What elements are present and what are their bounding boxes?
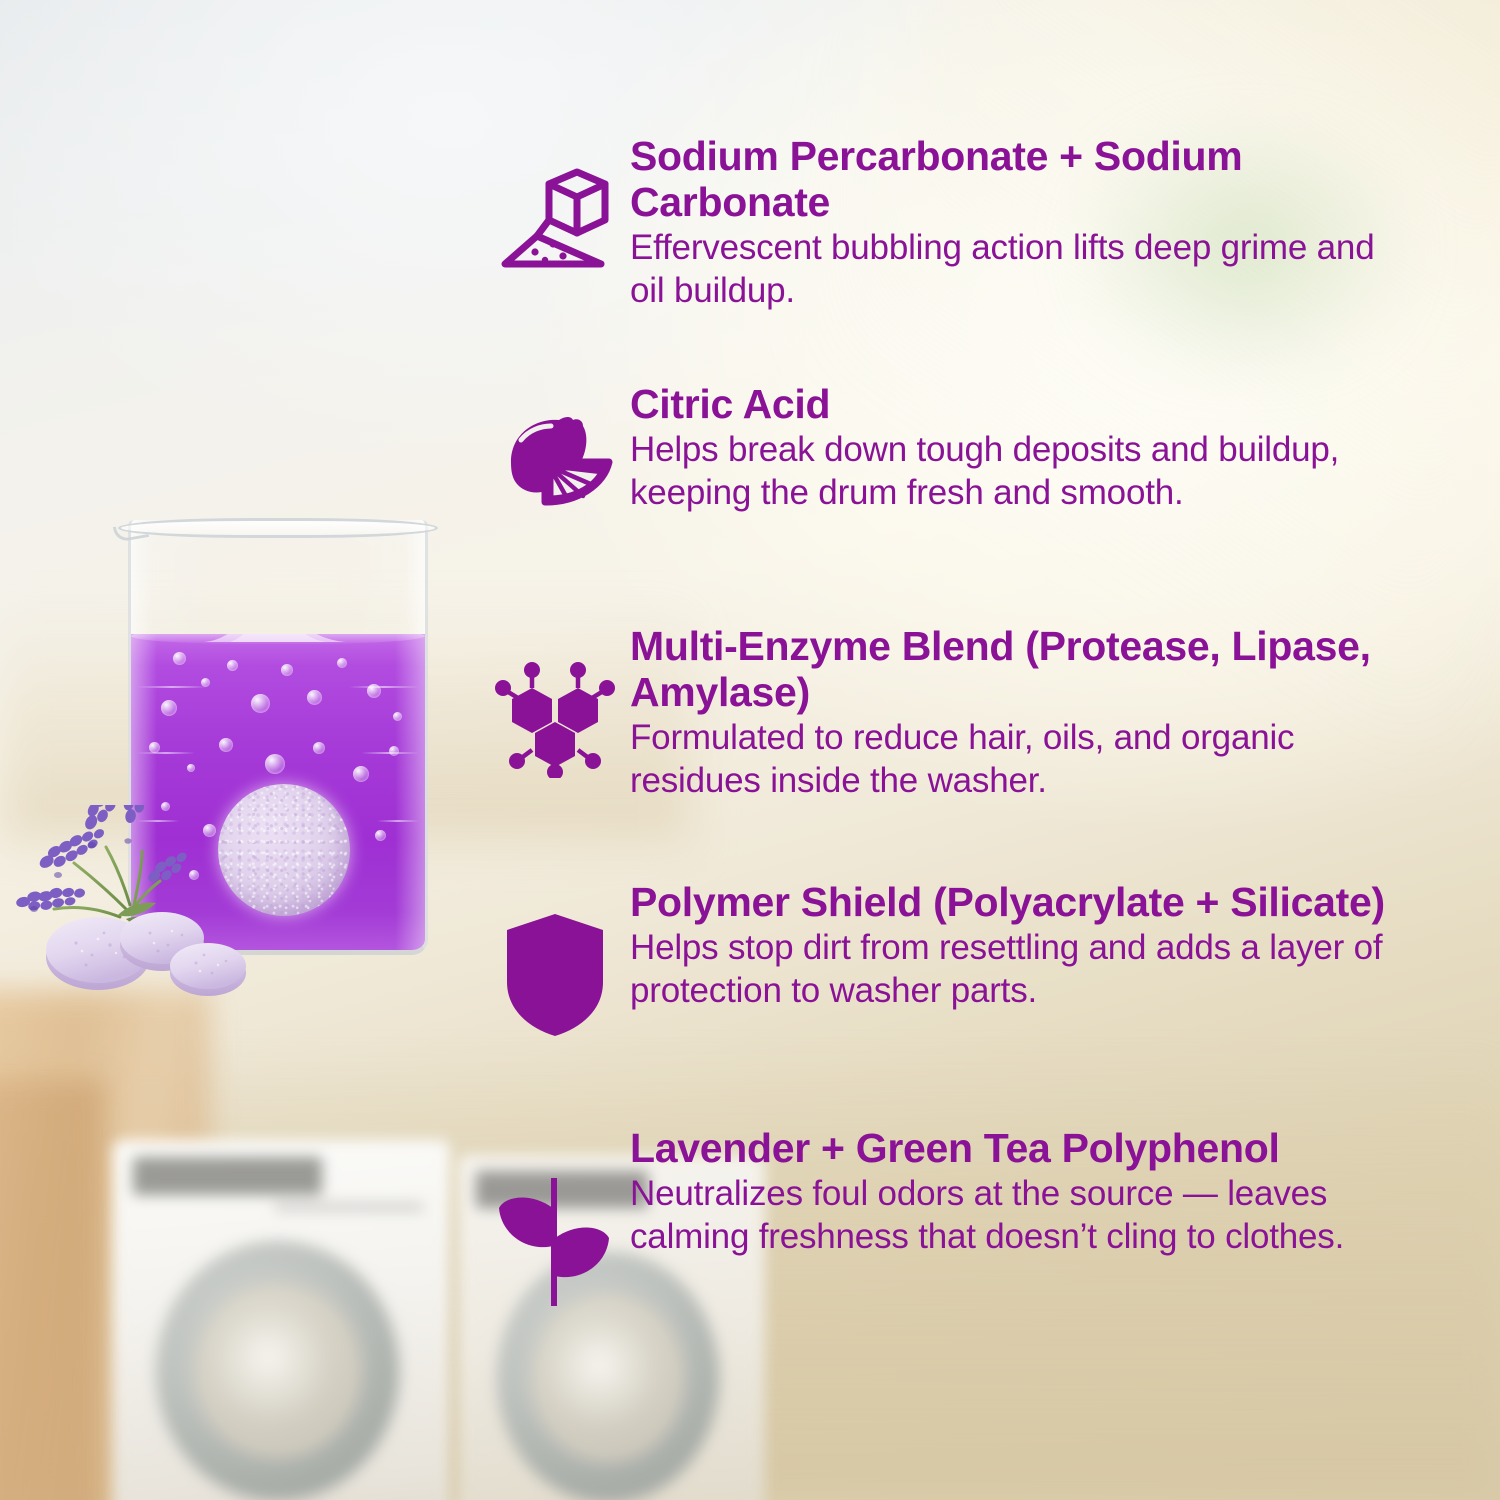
beaker-rim [118, 518, 438, 538]
molecule-icon [480, 622, 630, 778]
wooden-cabinet-edge [0, 1080, 105, 1500]
feature-item-polymer-shield: Polymer Shield (Polyacrylate + Silicate)… [480, 878, 1410, 1038]
feature-item-citric-acid: Citric Acid Helps break down tough depos… [480, 380, 1410, 514]
feature-text: Polymer Shield (Polyacrylate + Silicate)… [630, 878, 1410, 1012]
feature-text: Citric Acid Helps break down tough depos… [630, 380, 1410, 514]
feature-list: Sodium Percarbonate + Sodium Carbonate E… [480, 0, 1500, 1500]
washing-machine-left [113, 1140, 451, 1500]
feature-text: Sodium Percarbonate + Sodium Carbonate E… [630, 132, 1410, 312]
lemon-slice-icon [480, 380, 630, 514]
feature-description: Helps stop dirt from resettling and adds… [630, 927, 1410, 1012]
feature-title: Polymer Shield (Polyacrylate + Silicate) [630, 880, 1410, 926]
feature-title: Lavender + Green Tea Polyphenol [630, 1126, 1410, 1172]
feature-description: Neutralizes foul odors at the source — l… [630, 1173, 1410, 1258]
washer-trim-line [275, 1203, 424, 1211]
feature-title: Citric Acid [630, 382, 1410, 428]
splash-crown [200, 634, 350, 644]
leaf-sprout-icon [480, 1124, 630, 1308]
feature-text: Multi-Enzyme Blend (Protease, Lipase, Am… [630, 622, 1410, 802]
feature-description: Formulated to reduce hair, oils, and org… [630, 717, 1410, 802]
feature-item-sodium-percarbonate: Sodium Percarbonate + Sodium Carbonate E… [480, 132, 1410, 312]
washer-control-panel [133, 1157, 322, 1195]
feature-text: Lavender + Green Tea Polyphenol Neutrali… [630, 1124, 1410, 1258]
feature-title: Sodium Percarbonate + Sodium Carbonate [630, 134, 1410, 226]
shield-icon [480, 878, 630, 1038]
feature-description: Effervescent bubbling action lifts deep … [630, 227, 1410, 312]
product-image [0, 470, 480, 1050]
powder-cube-icon [480, 132, 630, 274]
feature-title: Multi-Enzyme Blend (Protease, Lipase, Am… [630, 624, 1410, 716]
lavender-and-tablets [0, 805, 270, 1005]
feature-item-lavender-green-tea: Lavender + Green Tea Polyphenol Neutrali… [480, 1124, 1410, 1308]
feature-description: Helps break down tough deposits and buil… [630, 429, 1410, 514]
feature-item-multi-enzyme-blend: Multi-Enzyme Blend (Protease, Lipase, Am… [480, 622, 1410, 802]
washer-door-glass [214, 1308, 336, 1434]
